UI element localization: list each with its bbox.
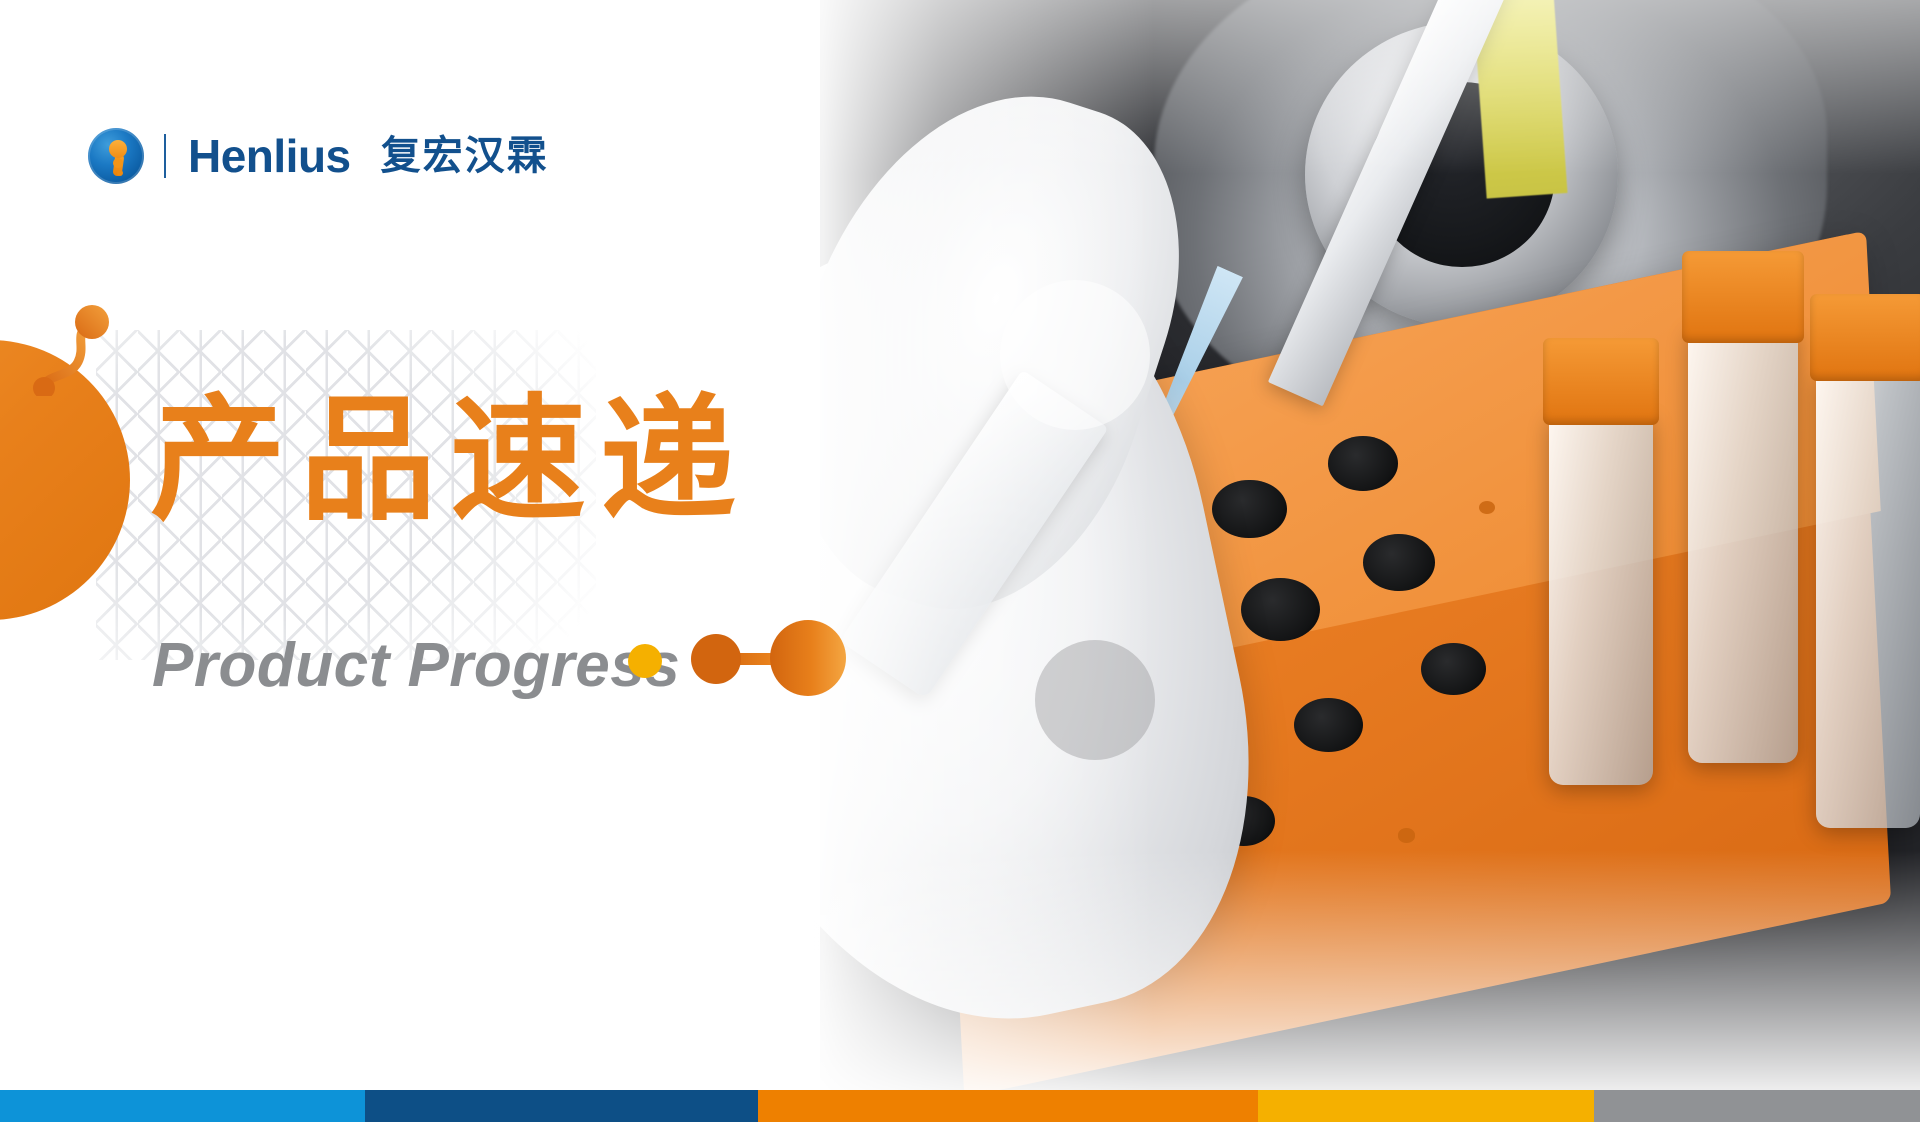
sample-tube — [1549, 414, 1653, 785]
tube-cap — [1810, 294, 1920, 381]
henlius-logo[interactable]: Henlius 复宏汉霖 — [88, 128, 549, 184]
logo-english-name: Henlius — [188, 133, 351, 179]
rack-hole — [1363, 534, 1435, 591]
sample-tube — [1816, 371, 1920, 829]
gray-translucent-circle — [1035, 640, 1155, 760]
logo-chinese-name: 复宏汉霖 — [381, 136, 549, 176]
rack-speckle — [1398, 828, 1415, 842]
tube-cap — [1543, 338, 1659, 425]
bar-segment-amber — [1258, 1090, 1594, 1122]
bar-segment-light-blue — [0, 1090, 365, 1122]
yellow-dot-decoration — [628, 644, 662, 678]
laboratory-pipetting-photo — [760, 0, 1920, 1090]
presentation-cover-slide: Henlius 复宏汉霖 产品速递 Product Progress — [0, 0, 1920, 1122]
bar-segment-gray — [1594, 1090, 1920, 1122]
page-title-english: Product Progress — [152, 630, 680, 701]
logo-divider — [164, 134, 166, 178]
rack-hole — [1212, 480, 1286, 539]
photo-bottom-fade — [760, 850, 1920, 1090]
rack-hole — [1328, 436, 1398, 491]
sample-tube — [1688, 327, 1798, 763]
bar-segment-dark-blue — [365, 1090, 759, 1122]
rack-hole — [1241, 578, 1320, 641]
bar-segment-orange — [758, 1090, 1104, 1122]
white-translucent-circle — [1000, 280, 1150, 430]
rack-hole — [1294, 698, 1364, 753]
henlius-logo-mark-icon — [88, 128, 144, 184]
page-title-chinese: 产品速递 — [150, 380, 750, 540]
bottom-color-bar — [0, 1090, 1920, 1122]
molecule-small-icon — [30, 300, 140, 396]
tube-cap — [1682, 251, 1804, 344]
bar-segment-orange-2 — [1104, 1090, 1258, 1122]
molecule-large-icon — [690, 612, 850, 704]
